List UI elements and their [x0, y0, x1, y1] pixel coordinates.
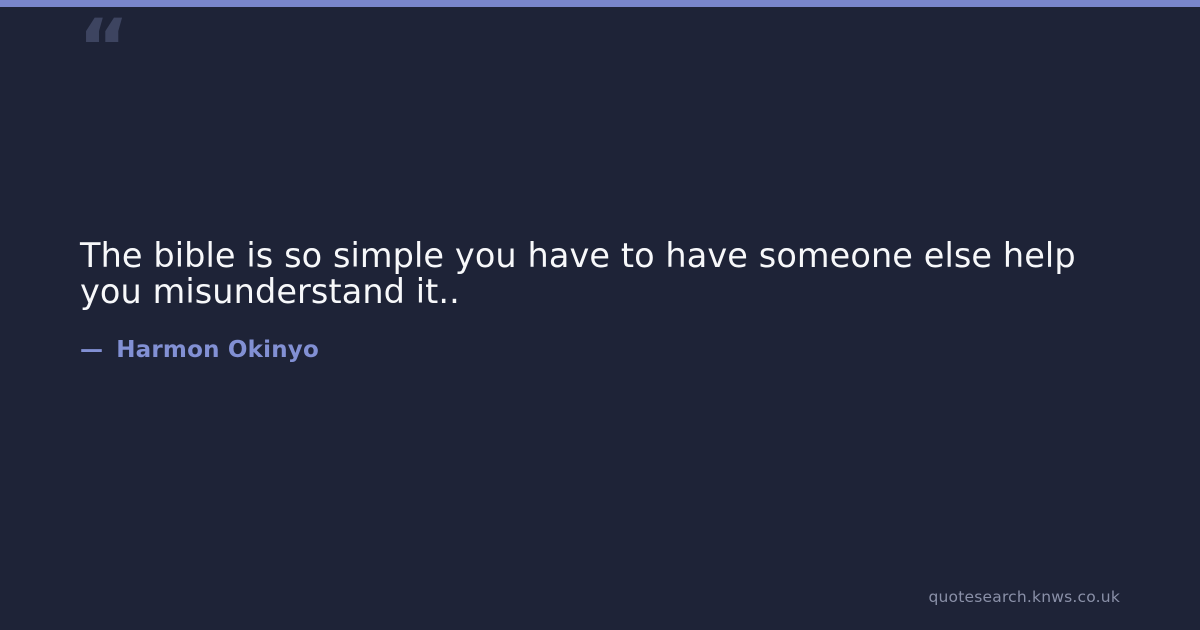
quote-content-block: The bible is so simple you have to have … — [80, 238, 1120, 364]
attribution-dash: — — [80, 336, 116, 364]
quotation-mark-icon: “ — [78, 10, 127, 88]
attribution-author-name: Harmon Okinyo — [116, 336, 319, 364]
top-accent-bar — [0, 0, 1200, 7]
quote-attribution: — Harmon Okinyo — [80, 310, 1120, 364]
quote-card: “ The bible is so simple you have to hav… — [0, 0, 1200, 630]
quote-text: The bible is so simple you have to have … — [80, 238, 1120, 310]
site-watermark: quotesearch.knws.co.uk — [928, 587, 1120, 607]
